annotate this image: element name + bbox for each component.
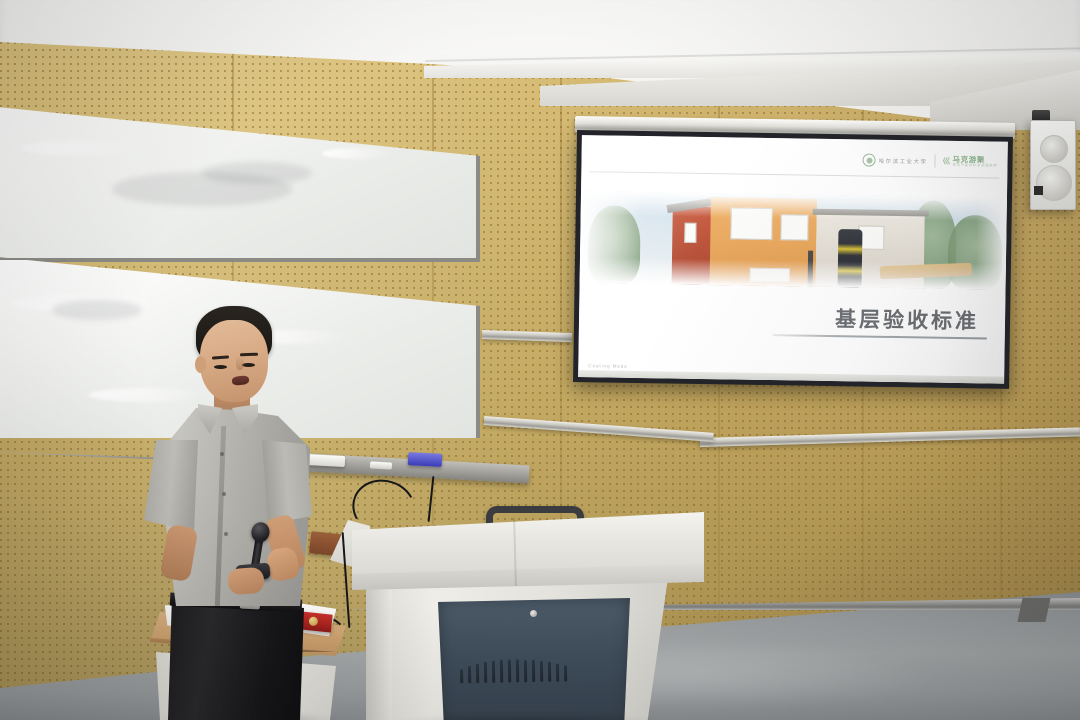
projection-screen: 哈尔滨工业大学 巛 马克游聚 建筑节能材料系统服务商 — [573, 130, 1013, 389]
logo-divider — [934, 155, 935, 168]
presenter-sleeve-right — [262, 440, 312, 524]
lectern-leg — [366, 578, 392, 720]
lectern[interactable] — [352, 512, 704, 720]
microphone-head-icon — [250, 521, 271, 544]
presenter-face — [200, 320, 268, 402]
speaker-tweeter — [1040, 135, 1068, 163]
brand-logo: 巛 马克游聚 建筑节能材料系统服务商 — [942, 155, 997, 168]
brand-tagline: 建筑节能材料系统服务商 — [952, 164, 997, 168]
slide-title: 基层验收标准 — [835, 303, 979, 335]
university-emblem-icon — [863, 153, 876, 166]
wall-speaker — [1030, 120, 1076, 210]
brand-badge-icon: 巛 — [942, 156, 949, 167]
slide-photo — [580, 191, 1007, 290]
baseboard-corner — [1017, 598, 1050, 622]
presenter — [140, 300, 330, 720]
whiteboard-marker-blue[interactable] — [408, 452, 443, 467]
university-logo: 哈尔滨工业大学 — [863, 153, 928, 167]
slide-logo-bar: 哈尔滨工业大学 巛 马克游聚 建筑节能材料系统服务商 — [863, 153, 998, 168]
cabinet-lock[interactable] — [530, 610, 537, 617]
university-name: 哈尔滨工业大学 — [879, 156, 928, 165]
presenter-trousers — [168, 596, 304, 720]
whiteboard-upper — [0, 84, 480, 262]
speaker-brand-logo — [1034, 186, 1043, 195]
presenter-nose — [236, 356, 244, 370]
presenter-ear — [195, 356, 206, 373]
presentation-slide: 哈尔滨工业大学 巛 马克游聚 建筑节能材料系统服务商 — [578, 135, 1008, 384]
presenter-sleeve-left — [144, 440, 198, 532]
cabinet-vents — [460, 653, 612, 684]
speaker-woofer — [1036, 165, 1072, 201]
lecture-hall-photo: 哈尔滨工业大学 巛 马克游聚 建筑节能材料系统服务商 — [0, 0, 1080, 720]
slide-header-rule — [589, 171, 999, 178]
presenter-hand-left — [227, 567, 265, 595]
whiteboard-marker-white[interactable] — [370, 461, 392, 469]
slide-bottom-band — [578, 370, 1004, 384]
slide-footer-note: Coating Mode — [588, 363, 627, 369]
